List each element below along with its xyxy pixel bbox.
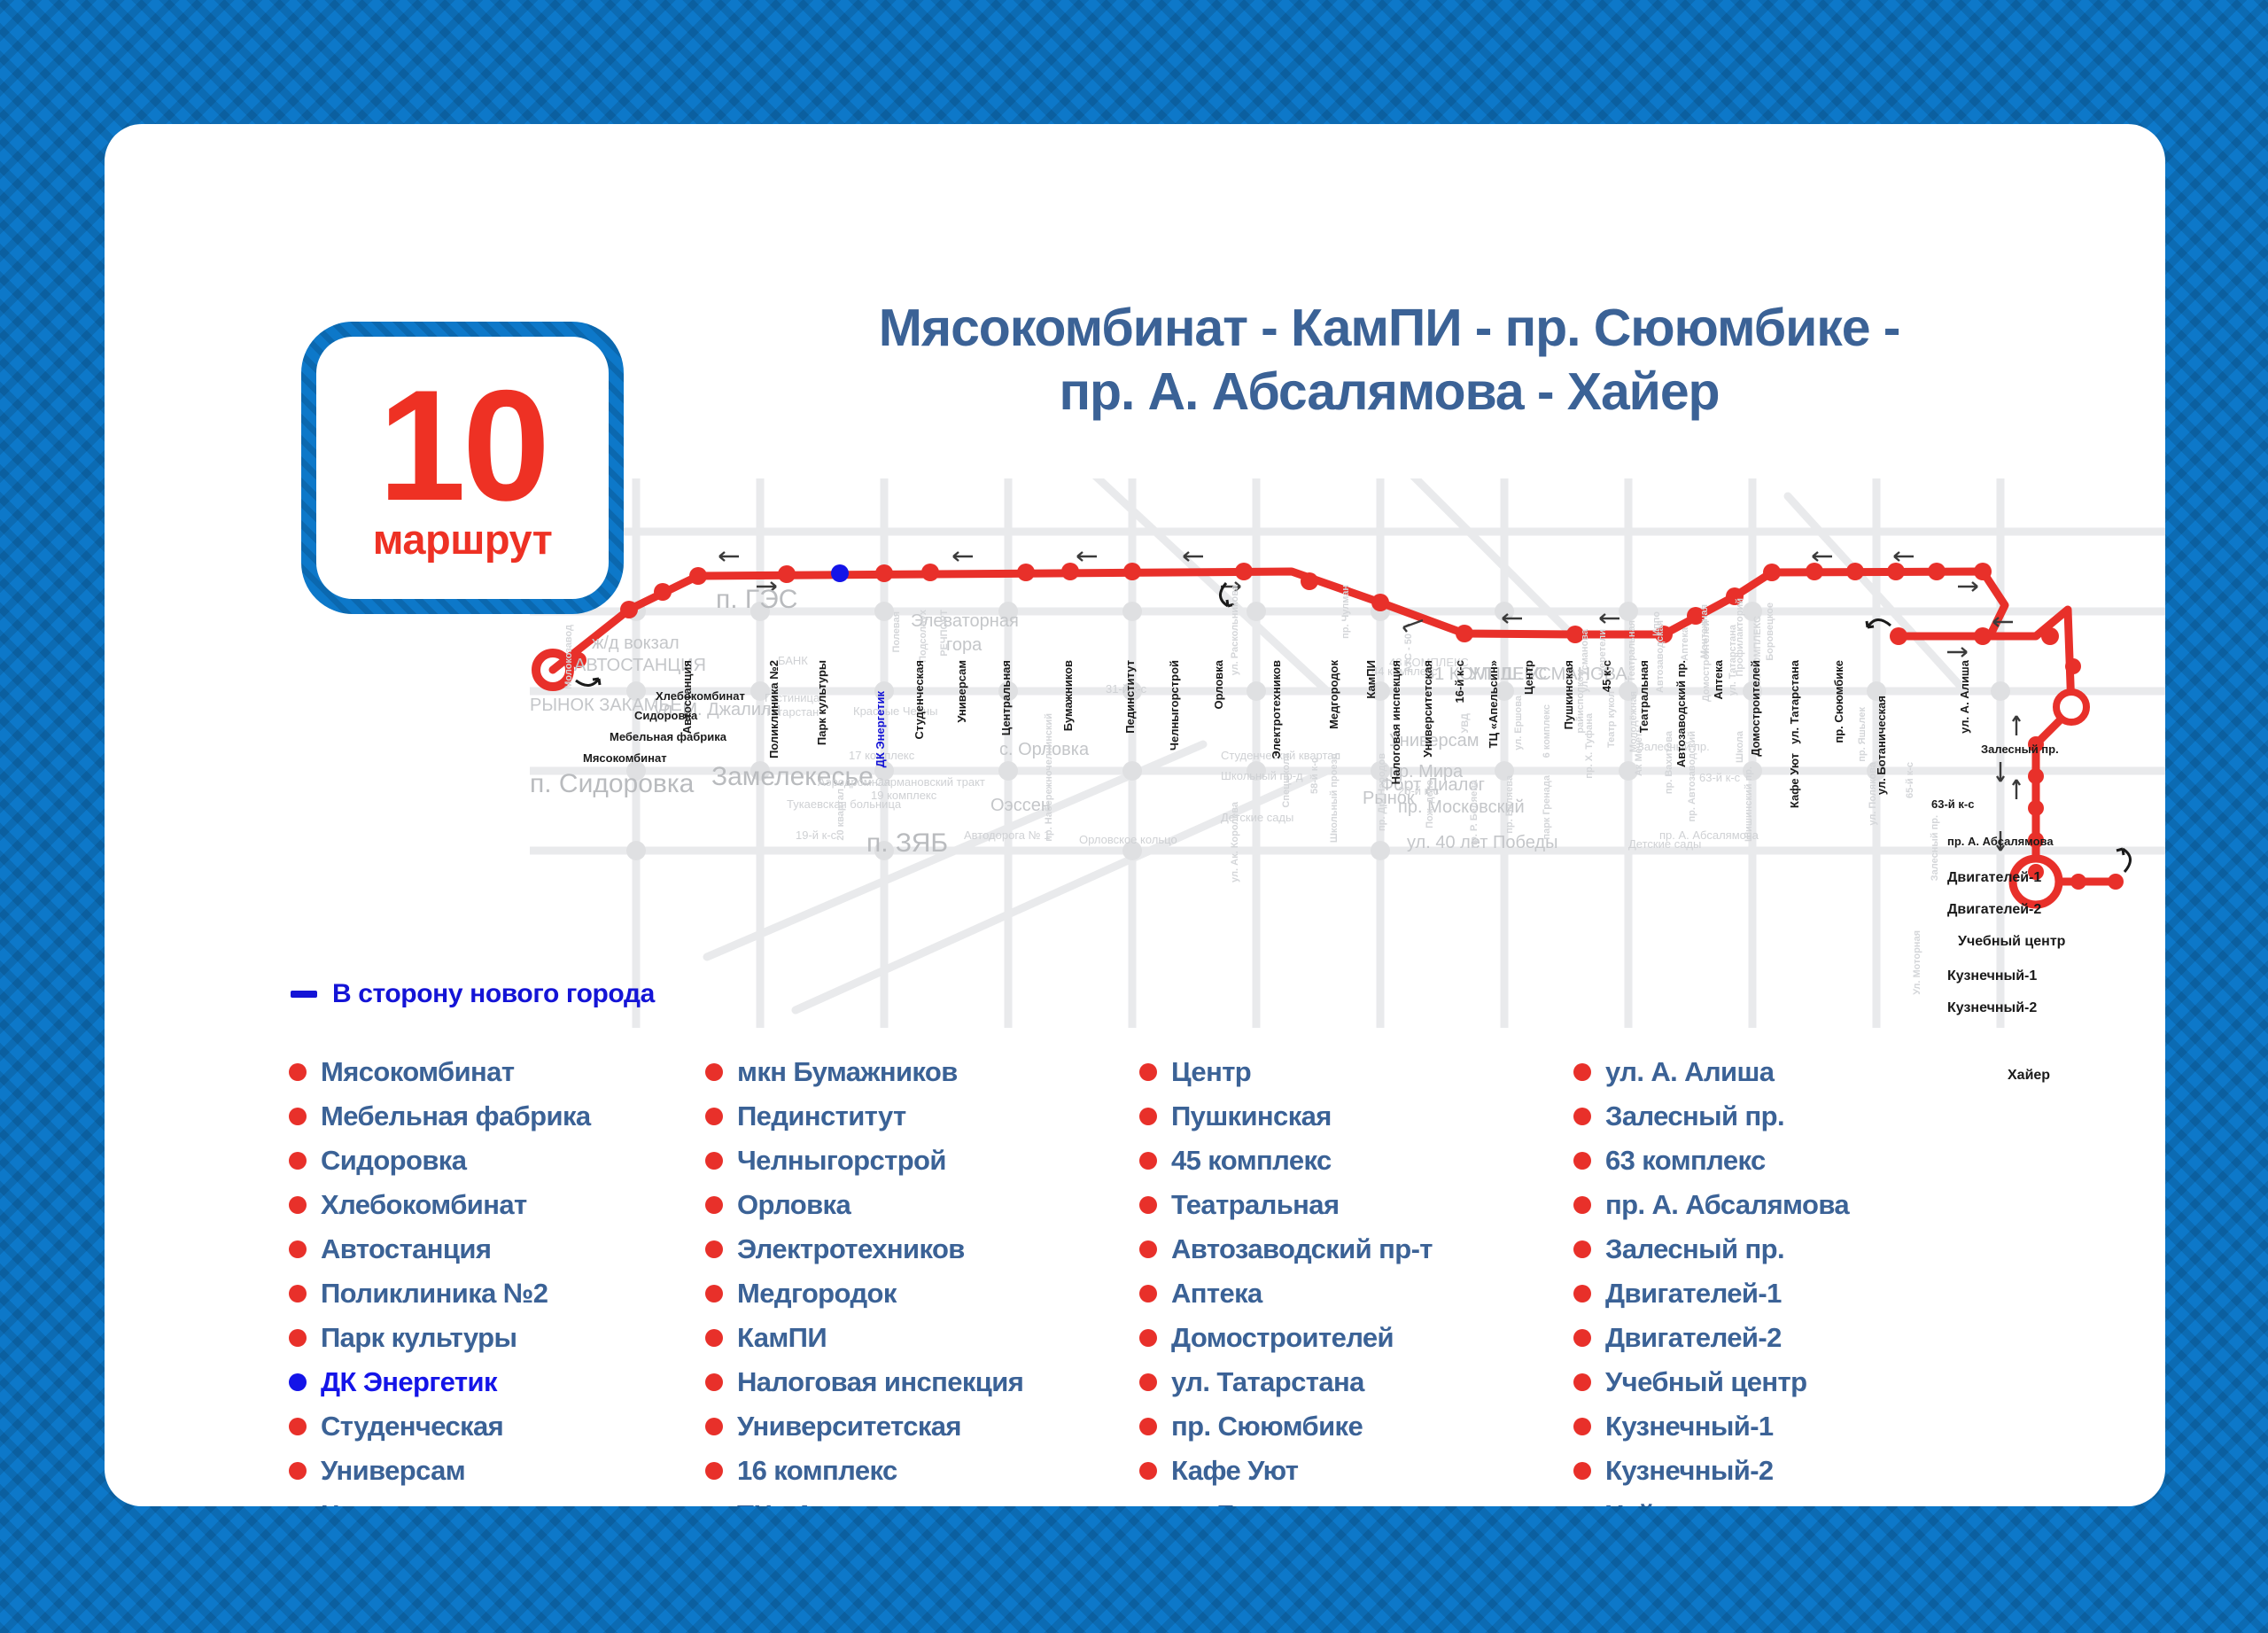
stop-dot-icon (1139, 1373, 1157, 1391)
stop-name: Кафе Уют (1171, 1455, 1298, 1487)
map-minor-label: Школа (1735, 731, 1745, 763)
stop-name: Мебельная фабрика (321, 1100, 591, 1132)
stops-column-2: мкн БумажниковПединститутЧелныгорстройОр… (705, 1050, 1139, 1506)
list-item[interactable]: мкн Бумажников (705, 1050, 1139, 1094)
map-stop-label: Кузнечный-2 (1947, 1000, 2037, 1016)
list-item[interactable]: ул. Татарстана (1139, 1360, 1573, 1404)
stops-column-4: ул. А. АлишаЗалесный пр.63 комплекспр. А… (1573, 1050, 2034, 1506)
stop-name: Кузнечный-1 (1605, 1411, 1774, 1442)
stop-name: Сидоровка (321, 1145, 466, 1177)
map-stop-label: 45 к-с (1600, 660, 1613, 692)
map-stop-label: Автостанция (680, 660, 694, 734)
map-stop-label: пр. Сююмбике (1832, 660, 1845, 743)
stop-dot-icon (289, 1196, 307, 1214)
map-minor-label: Полевая (891, 611, 902, 652)
map-minor-label: Театр кукол (1606, 691, 1617, 748)
map-minor-label: Пож. депо (1425, 780, 1435, 828)
map-label: Оэссен (990, 796, 1051, 816)
stop-dot-icon (1139, 1196, 1157, 1214)
map-stop-label: Хлебокомбинат (656, 689, 745, 703)
list-item[interactable]: Двигателей-1 (1573, 1271, 2034, 1316)
map-minor-label: Боровецкое (1765, 603, 1775, 661)
route-title-line-1: Мясокомбинат - КамПИ - пр. Сююмбике - (760, 297, 2018, 361)
stop-name: 63 комплекс (1605, 1145, 1766, 1177)
stop-dot-icon (1573, 1462, 1591, 1480)
map-minor-label: Молокозавод (563, 625, 574, 689)
map-minor-label: пр. Вахитова (1664, 731, 1674, 794)
list-item[interactable]: ул. А. Алиша (1573, 1050, 2034, 1094)
map-minor-label: Театральная (1627, 620, 1637, 682)
poster-card: 10 маршрут Мясокомбинат - КамПИ - пр. Сю… (105, 124, 2165, 1506)
stop-name: 45 комплекс (1171, 1145, 1332, 1177)
map-minor-label: пр. Др. Народов (1377, 753, 1387, 831)
map-stop-label: ТЦ «Апельсин» (1487, 660, 1500, 748)
map-label: п. Сидоровка (530, 769, 694, 799)
map-stop-label: Поликлиника №2 (767, 660, 781, 758)
map-label: БАНК (778, 654, 808, 667)
list-item[interactable]: ул. Ботаническая (1139, 1493, 1573, 1506)
stop-dot-icon (1139, 1108, 1157, 1125)
map-minor-label: Подсолнух (918, 610, 928, 663)
map-stop-label: Универсам (955, 660, 968, 723)
list-item[interactable]: Хлебокомбинат (289, 1183, 705, 1227)
list-item[interactable]: пр. А. Абсалямова (1573, 1183, 2034, 1227)
list-item[interactable]: Челныгорстрой (705, 1139, 1139, 1183)
list-item[interactable]: Универсам (289, 1449, 705, 1493)
stop-dot-icon (289, 1152, 307, 1170)
stop-name: мкн Бумажников (737, 1056, 958, 1088)
map-label: Сармановский тракт (875, 775, 985, 789)
stop-dot-icon (1139, 1240, 1157, 1258)
map-label: Автодорога № 1 (964, 828, 1050, 842)
stop-name: Двигателей-1 (1605, 1278, 1782, 1310)
list-item[interactable]: Автостанция (289, 1227, 705, 1271)
map-minor-label: пр. Х. Туфана (1584, 713, 1595, 779)
stop-name: Домостроителей (1171, 1322, 1394, 1354)
map-minor-label: парк Гренада (1542, 775, 1552, 840)
map-label: 19-й к-с (796, 828, 836, 842)
list-item[interactable]: Сидоровка (289, 1139, 705, 1183)
stop-dot-icon (1139, 1063, 1157, 1081)
stop-name: Залесный пр. (1605, 1233, 1784, 1265)
legend-dash-icon (291, 991, 317, 998)
list-item[interactable]: Хайер (1573, 1493, 2034, 1506)
map-minor-label: Залесный пр. (1930, 815, 1940, 881)
list-item[interactable]: Центральная (289, 1493, 705, 1506)
route-number: 10 (378, 372, 547, 519)
list-item[interactable]: ДК Энергетик (289, 1360, 705, 1404)
map-minor-label: пр. Яшьлек (1857, 707, 1868, 762)
map-stop-label: Мясокомбинат (583, 751, 667, 765)
stop-dot-icon (705, 1196, 723, 1214)
map-stop-label: 16-й к-с (1453, 660, 1466, 703)
list-item[interactable]: Учебный центр (1573, 1360, 2034, 1404)
map-label: ул. 40 лет Победы (1407, 833, 1557, 853)
route-word: маршрут (373, 515, 553, 564)
list-item[interactable]: 63 комплекс (1573, 1139, 2034, 1183)
map-stop-label: Пушкинская (1562, 660, 1575, 729)
stop-dot-icon (289, 1063, 307, 1081)
map-stop-dot-dk-energetik (831, 564, 849, 582)
map-stop-label: Парк культуры (815, 660, 828, 745)
map-stop-label: Центр (1522, 660, 1535, 695)
map-stop-label: Театральная (1637, 660, 1651, 733)
map-minor-label: пр. Чулман (1340, 585, 1351, 639)
list-item[interactable]: ТЦ «Апельсин» (705, 1493, 1139, 1506)
stop-dot-icon (1573, 1108, 1591, 1125)
map-stop-label: Залесный пр. (1981, 743, 2059, 756)
stop-dot-icon (1139, 1418, 1157, 1435)
stop-name: Пединститут (737, 1100, 906, 1132)
map-minor-label: АТС - 50 (1403, 634, 1414, 673)
list-item[interactable]: Аптека (1139, 1271, 1573, 1316)
list-item[interactable]: Двигателей-2 (1573, 1316, 2034, 1360)
list-item[interactable]: Центр (1139, 1050, 1573, 1094)
list-item[interactable]: Пединститут (705, 1094, 1139, 1139)
stop-name: ДК Энергетик (321, 1366, 497, 1398)
map-stop-label: Медгородок (1327, 660, 1340, 729)
list-item[interactable]: Налоговая инспекция (705, 1360, 1139, 1404)
map-minor-label: Школьный проезд (1329, 753, 1340, 843)
map-minor-label: Спецшкола (1281, 753, 1292, 808)
stop-dot-icon (1573, 1329, 1591, 1347)
list-item[interactable]: Залесный пр. (1573, 1094, 2034, 1139)
stop-dot-icon (1573, 1063, 1591, 1081)
route-title-line-2: пр. А. Абсалямова - Хайер (760, 361, 2018, 424)
map-label: гора (946, 635, 982, 656)
map-stop-label: ул. Ботаническая (1875, 696, 1888, 795)
stop-dot-icon (705, 1285, 723, 1303)
map-minor-label: ул. Татарстана (1728, 625, 1738, 696)
stop-name: Автостанция (321, 1233, 491, 1265)
map-stop-label: Двигателей-2 (1947, 902, 2041, 918)
list-item[interactable]: Электротехников (705, 1227, 1139, 1271)
map-stop-label: пр. А. Абсалямова (1947, 835, 2054, 848)
list-item[interactable]: КамПИ (705, 1316, 1139, 1360)
map-stop-label: Мебельная фабрика (610, 730, 726, 743)
stop-dot-icon (705, 1108, 723, 1125)
map-minor-label: ул. Усманова (1580, 629, 1590, 693)
terminal-ring-mid (2056, 692, 2086, 722)
route-number-badge: 10 маршрут (301, 322, 624, 614)
map-stop-label: Электротехников (1270, 660, 1283, 758)
list-item[interactable]: Парк культуры (289, 1316, 705, 1360)
list-item[interactable]: Студенческая (289, 1404, 705, 1449)
stop-name: КамПИ (737, 1322, 827, 1354)
route-map: п. ГЭСЗамелекесьеп. Сидоровкап. ЗЯБЭлева… (530, 478, 2165, 1028)
map-label: п. ЗЯБ (866, 828, 948, 859)
stop-dot-icon (1573, 1373, 1591, 1391)
map-label: Орловское кольцо (1079, 833, 1177, 846)
stop-name: Автозаводский пр-т (1171, 1233, 1433, 1265)
map-stop-label: КамПИ (1364, 660, 1378, 699)
stop-name: Студенческая (321, 1411, 503, 1442)
stop-dot-icon (705, 1152, 723, 1170)
stops-column-1: МясокомбинатМебельная фабрикаСидоровкаХл… (289, 1050, 705, 1506)
stop-name: 16 комплекс (737, 1455, 897, 1487)
map-stop-label: Аптека (1712, 660, 1725, 700)
map-stop-label: ул. А. Алиша (1958, 660, 1971, 734)
map-minor-label: УВД (1460, 713, 1471, 733)
list-item[interactable]: Автозаводский пр-т (1139, 1227, 1573, 1271)
list-item[interactable]: Мебельная фабрика (289, 1094, 705, 1139)
map-minor-label: Аптека (1680, 627, 1690, 661)
list-item[interactable]: Поликлиника №2 (289, 1271, 705, 1316)
page-title: Мясокомбинат - КамПИ - пр. Сююмбике - пр… (760, 297, 2018, 424)
stop-dot-icon (1139, 1329, 1157, 1347)
stop-dot-icon (705, 1329, 723, 1347)
legend-label: В сторону нового города (332, 979, 655, 1009)
map-minor-label: 58-й к-с (1309, 758, 1320, 794)
map-stop-label: 63-й к-с (1931, 797, 1974, 811)
stop-dot-icon (1139, 1462, 1157, 1480)
stops-column-3: ЦентрПушкинская45 комплексТеатральнаяАвт… (1139, 1050, 1573, 1506)
stop-name: ул. А. Алиша (1605, 1056, 1774, 1088)
stop-dot-icon (1139, 1285, 1157, 1303)
stop-dot-icon (1573, 1152, 1591, 1170)
map-minor-label: 65-й к-с (1905, 762, 1915, 798)
list-item[interactable]: пр. Сююмбике (1139, 1404, 1573, 1449)
map-minor-label: Ак Мечеть (1634, 727, 1644, 776)
stop-name: Учебный центр (1605, 1366, 1806, 1398)
list-item[interactable]: Кузнечный-2 (1573, 1449, 2034, 1493)
stop-name: Центральная (321, 1499, 495, 1506)
stop-dot-icon (289, 1462, 307, 1480)
stop-name: Пушкинская (1171, 1100, 1332, 1132)
stop-dot-icon (289, 1373, 307, 1391)
map-minor-label: 6 комплекс (1542, 704, 1552, 758)
stop-dot-icon (1573, 1285, 1591, 1303)
list-item[interactable]: Мясокомбинат (289, 1050, 705, 1094)
map-stop-label: Автозаводский пр. (1674, 660, 1688, 767)
list-item[interactable]: Залесный пр. (1573, 1227, 2034, 1271)
map-minor-label: пр. Беляева (1504, 775, 1515, 834)
stop-name: Университетская (737, 1411, 961, 1442)
stop-dot-icon (705, 1462, 723, 1480)
map-minor-label: РЕЧПОРТ (939, 610, 950, 657)
stop-name: Электротехников (737, 1233, 965, 1265)
map-stop-label: Челныгорстрой (1168, 660, 1181, 750)
stop-dot-icon (1573, 1196, 1591, 1214)
stop-name: Залесный пр. (1605, 1100, 1784, 1132)
map-stop-label: Кузнечный-1 (1947, 968, 2037, 984)
map-label: 63-й к-с (1699, 771, 1740, 784)
map-stop-label: Университетская (1421, 660, 1434, 758)
map-minor-label: ул. Раскольникова (1230, 585, 1240, 675)
stop-name: ул. Татарстана (1171, 1366, 1364, 1398)
stop-dot-icon (289, 1418, 307, 1435)
stop-name: Хайер (1605, 1499, 1685, 1506)
stop-name: Центр (1171, 1056, 1251, 1088)
map-stop-label: Домостроителей (1749, 660, 1762, 757)
stop-dot-icon (705, 1373, 723, 1391)
stop-name: Универсам (321, 1455, 465, 1487)
map-stop-label: Студенческая (913, 660, 926, 739)
map-stop-label: Двигателей-1 (1947, 870, 2041, 886)
map-stop-label: Центральная (999, 660, 1013, 735)
list-item[interactable]: Орловка (705, 1183, 1139, 1227)
map-label: п. ГЭС (716, 585, 797, 615)
list-item[interactable]: Домостроителей (1139, 1316, 1573, 1360)
map-minor-label: Ул. Моторная (1912, 930, 1922, 995)
map-minor-label: ул. Ак. Королева (1230, 802, 1240, 883)
map-stop-label: Пединститут (1123, 660, 1137, 734)
stop-name: Налоговая инспекция (737, 1366, 1023, 1398)
list-item[interactable]: Кузнечный-1 (1573, 1404, 2034, 1449)
stop-name: Театральная (1171, 1189, 1339, 1221)
map-stop-label: Бумажников (1061, 660, 1075, 731)
stop-name: Поликлиника №2 (321, 1278, 548, 1310)
map-minor-label: Автозаводская (1655, 620, 1666, 693)
stop-dot-icon (1573, 1240, 1591, 1258)
list-item[interactable]: Медгородок (705, 1271, 1139, 1316)
stop-name: Челныгорстрой (737, 1145, 946, 1177)
street-nodes (626, 602, 2010, 860)
map-label: ж/д вокзал (592, 634, 680, 654)
map-minor-label: ул. Ершова (1513, 696, 1524, 750)
stop-dot-icon (289, 1329, 307, 1347)
map-minor-label: пр. Р. Беляева (1469, 780, 1480, 849)
stop-dot-icon (705, 1418, 723, 1435)
list-item[interactable]: 16 комплекс (705, 1449, 1139, 1493)
stop-dot-icon (289, 1240, 307, 1258)
stop-dot-icon (1573, 1418, 1591, 1435)
map-minor-label: Шишинский пр. (1744, 766, 1754, 842)
stop-name: Двигателей-2 (1605, 1322, 1782, 1354)
map-stop-label: Учебный центр (1958, 934, 2065, 950)
list-item[interactable]: 45 комплекс (1139, 1139, 1573, 1183)
map-stop-label: Кафе Уют (1788, 753, 1801, 808)
stop-dot-icon (705, 1240, 723, 1258)
stop-name: Орловка (737, 1189, 850, 1221)
list-item[interactable]: Пушкинская (1139, 1094, 1573, 1139)
map-stop-label: Орловка (1212, 660, 1225, 710)
stop-dot-icon (705, 1063, 723, 1081)
stop-name: ул. Ботаническая (1171, 1499, 1400, 1506)
stop-name: пр. Сююмбике (1171, 1411, 1363, 1442)
stop-name: Хлебокомбинат (321, 1189, 527, 1221)
stop-name: пр. А. Абсалямова (1605, 1189, 1849, 1221)
stop-name: ТЦ «Апельсин» (737, 1499, 940, 1506)
list-item[interactable]: Театральная (1139, 1183, 1573, 1227)
map-minor-label: Монтажная (1699, 604, 1710, 658)
list-item[interactable]: Университетская (705, 1404, 1139, 1449)
map-stop-label: ДК Энергетик (874, 691, 887, 767)
map-stop-label: ул. Татарстана (1788, 660, 1801, 744)
map-minor-label: 20 квартал (835, 789, 846, 841)
stop-name: Аптека (1171, 1278, 1262, 1310)
stops-list: МясокомбинатМебельная фабрикаСидоровкаХл… (289, 1050, 2114, 1506)
map-minor-label: пр. Набережночелнинский (1044, 713, 1054, 842)
stop-name: Мясокомбинат (321, 1056, 514, 1088)
stop-name: Медгородок (737, 1278, 897, 1310)
stop-name: Кузнечный-2 (1605, 1455, 1774, 1487)
stop-dot-icon (289, 1108, 307, 1125)
map-stop-label: Налоговая инспекция (1389, 660, 1402, 784)
stop-dot-icon (289, 1285, 307, 1303)
legend: В сторону нового города (291, 979, 655, 1009)
list-item[interactable]: Кафе Уют (1139, 1449, 1573, 1493)
stop-name: Парк культуры (321, 1322, 517, 1354)
stop-dot-icon (1139, 1152, 1157, 1170)
map-minor-label: пр. Автозаводский (1687, 731, 1697, 821)
